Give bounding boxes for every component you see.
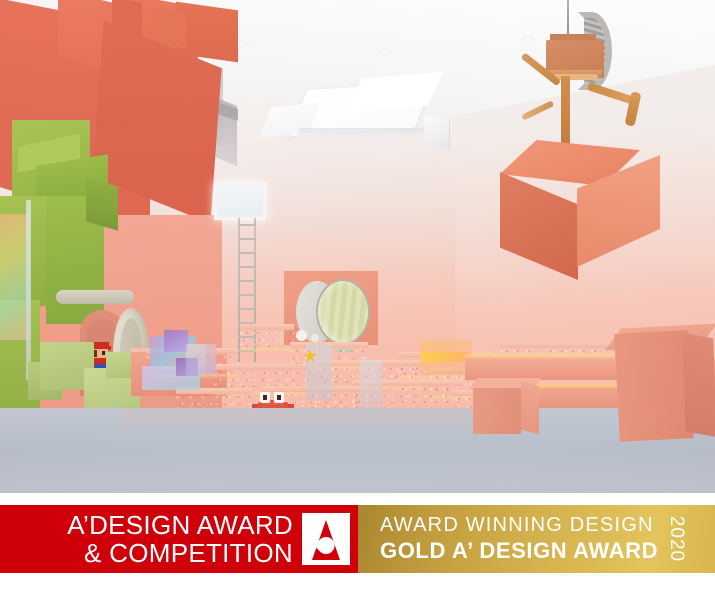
terrazzo-step xyxy=(240,330,294,348)
project-photograph xyxy=(0,0,715,493)
skylight-edge xyxy=(296,128,432,138)
downlight-icon xyxy=(522,36,534,41)
award-winning-design-label: AWARD WINNING DESIGN xyxy=(380,515,658,536)
sphere-prop xyxy=(296,330,307,341)
iridescent-block xyxy=(164,330,188,352)
translucent-glass-insert xyxy=(360,360,382,408)
award-badge-page: A’DESIGN AWARD & COMPETITION AWARD WINNI… xyxy=(0,0,715,612)
downlight-icon xyxy=(240,38,252,43)
a-design-award-droplet-logo xyxy=(302,513,350,565)
overhead-duct xyxy=(56,290,134,304)
green-volume xyxy=(86,177,118,230)
award-year: 2020 xyxy=(665,516,687,562)
gold-a-design-award-label: GOLD A’ DESIGN AWARD xyxy=(380,539,658,562)
amber-glass-stripe xyxy=(421,352,471,362)
a-design-award-wordmark: A’DESIGN AWARD & COMPETITION xyxy=(67,512,293,566)
translucent-glass-insert xyxy=(186,344,206,378)
coral-cube-seat-side xyxy=(521,382,539,434)
downlight-icon xyxy=(379,50,391,55)
sphere-prop xyxy=(311,334,319,342)
wordmark-line-1: A’DESIGN AWARD xyxy=(67,512,293,538)
wordmark-line-2: & COMPETITION xyxy=(67,540,293,566)
gold-award-text: AWARD WINNING DESIGN GOLD A’ DESIGN AWAR… xyxy=(380,515,658,562)
glass-panel-edge xyxy=(26,200,31,380)
ceiling-vent xyxy=(424,116,450,150)
gold-award-panel: AWARD WINNING DESIGN GOLD A’ DESIGN AWAR… xyxy=(358,505,715,573)
coral-cube-seat xyxy=(473,388,521,434)
illuminated-window-box xyxy=(214,182,266,220)
large-coral-cube-side xyxy=(682,333,715,437)
circular-green-ribbed-disc xyxy=(316,279,370,345)
award-badge-bar: A’DESIGN AWARD & COMPETITION AWARD WINNI… xyxy=(0,505,715,573)
a-design-award-logo-panel: A’DESIGN AWARD & COMPETITION xyxy=(0,505,358,573)
